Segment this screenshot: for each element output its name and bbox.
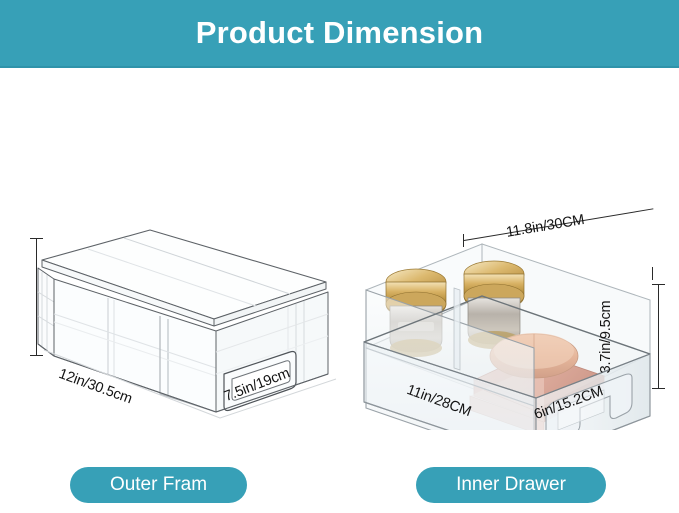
- outer-frame-height-tick-top: [30, 238, 43, 239]
- inner-drawer-width-tick-left: [463, 234, 464, 247]
- inner-drawer-width-tick-right: [652, 267, 653, 280]
- inner-drawer-height-tick-bottom: [652, 388, 665, 389]
- inner-drawer-height-tick-top: [652, 284, 665, 285]
- outer-frame-pill-label: Outer Fram: [70, 467, 247, 503]
- outer-frame-height-tick-bottom: [30, 355, 43, 356]
- page-title: Product Dimension: [0, 0, 679, 66]
- inner-drawer-height-dimension-line: [658, 284, 659, 389]
- inner-drawer-pill-label: Inner Drawer: [416, 467, 606, 503]
- header-banner: Product Dimension: [0, 0, 679, 68]
- product-dimension-infographic: Product Dimension: [0, 0, 679, 513]
- outer-frame-illustration: [28, 222, 358, 422]
- inner-drawer-height-label: 3.7in/9.5cm: [598, 282, 614, 392]
- outer-frame-height-dimension-line: [36, 238, 37, 356]
